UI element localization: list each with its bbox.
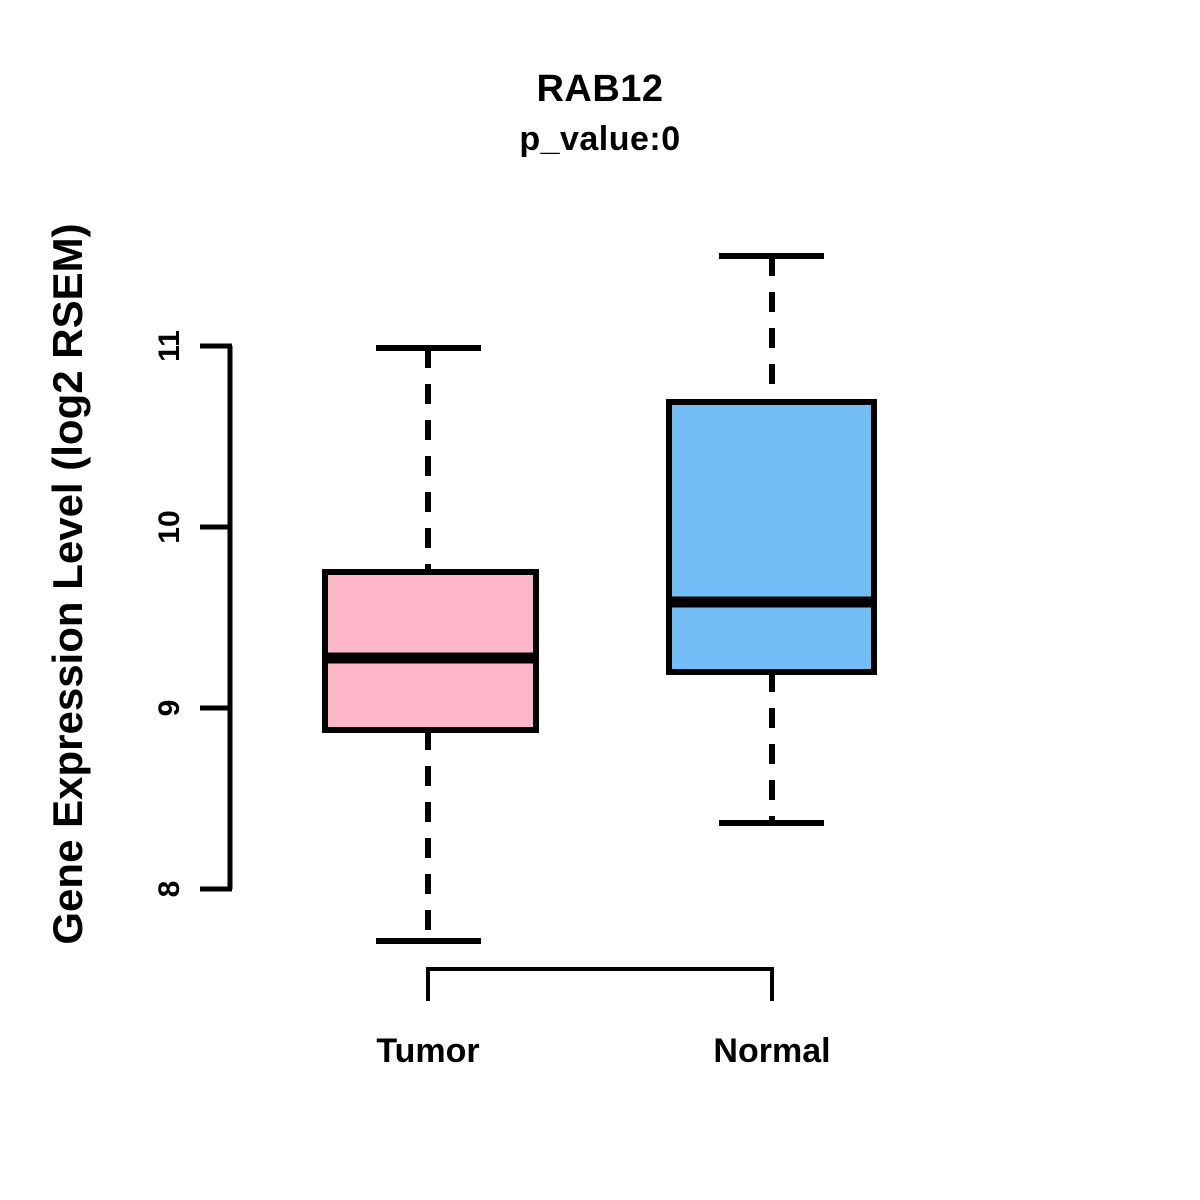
comparison-bracket xyxy=(427,967,773,1001)
box-group-normal xyxy=(666,256,877,823)
plot-drawing-area xyxy=(0,0,1200,1200)
box-rect-normal xyxy=(669,402,874,672)
box-group-tumor xyxy=(322,348,539,941)
boxplot-figure: RAB12 p_value:0 Gene Expression Level (l… xyxy=(0,0,1200,1200)
box-rect-tumor xyxy=(325,572,536,730)
y-axis xyxy=(200,346,232,889)
